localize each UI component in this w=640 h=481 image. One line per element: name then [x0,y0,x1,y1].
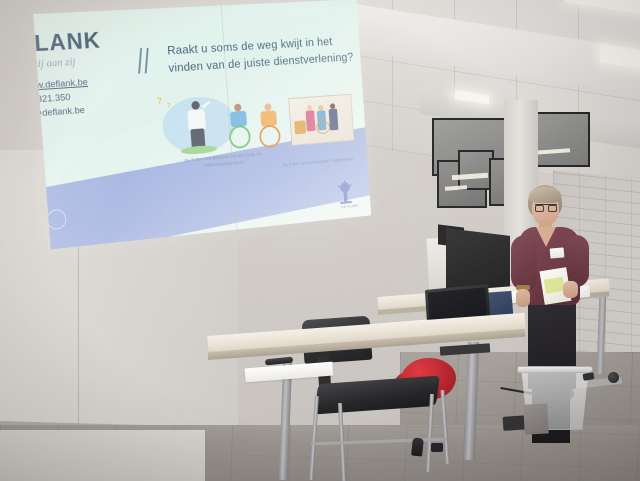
slide-logo-caption: DE FLANK [341,204,359,209]
interior-window [530,112,590,167]
question-mark-icon: ? [166,103,170,110]
slide-contact-block: www.deflank.be 56/321.350 fo@deflank.be [33,71,169,121]
floor-hatch-lid [523,403,549,434]
wall-seam [78,243,79,439]
highlighted-text [544,277,565,294]
projection-screen: FLANK or zij aan zij www.deflank.be 56/3… [33,0,371,249]
left-wall-lower [0,430,205,481]
slide-watermark-circle [45,208,68,231]
illustration-person [306,110,316,131]
floor-object [431,443,443,452]
illustration-torso [187,109,206,130]
illustration-desk [294,120,306,134]
presenter-hair [529,187,561,203]
meeting-room-photo: FLANK or zij aan zij www.deflank.be 56/3… [0,0,640,481]
glasses-icon [535,204,557,211]
slide-divider-bars [139,48,153,78]
floor-object [411,437,424,456]
presenter-hand-right [563,281,578,298]
slide-headline: Raakt u soms de weg kwijt in het vinden … [167,32,358,76]
slide-logo-icon [333,178,357,206]
illustration-wheel [259,124,282,148]
question-mark-icon: ? [157,96,163,106]
presenter-sleeve-left [511,235,537,291]
name-badge [550,247,565,258]
storage-bin-rim [517,366,593,373]
illustration-professionals-frame [288,94,354,146]
presenter-hand-left [516,289,530,307]
table-caster [608,372,619,383]
illustration-wheel [316,120,330,134]
illustration-person [329,109,339,131]
presentation-slide: FLANK or zij aan zij www.deflank.be 56/3… [33,0,371,249]
presenter-sleeve-right [565,235,589,287]
